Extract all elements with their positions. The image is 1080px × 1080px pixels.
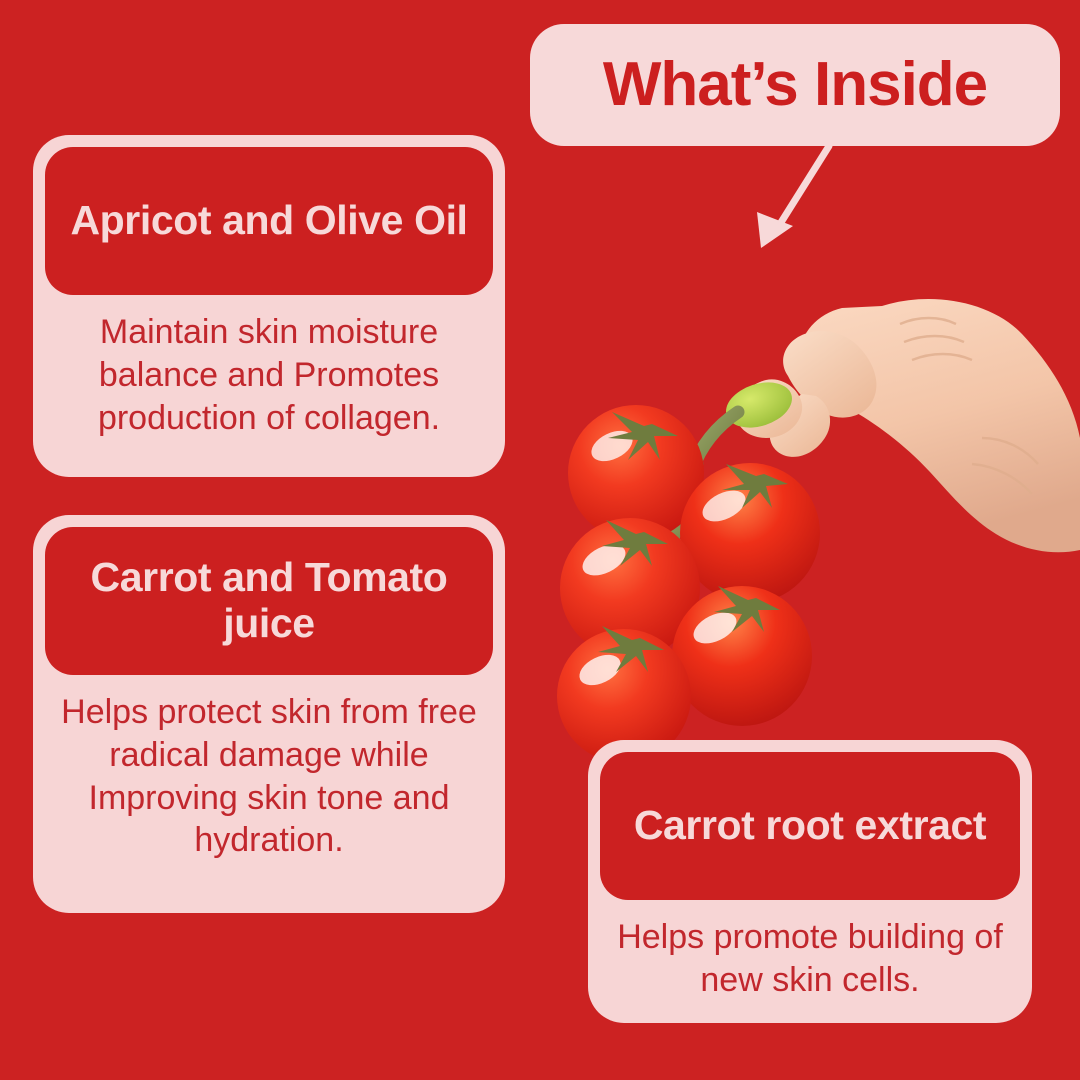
- card-title-text: Carrot root extract: [634, 803, 986, 849]
- tomato-group: [557, 405, 820, 758]
- ingredients-poster: What’s Inside: [0, 0, 1080, 1080]
- ingredient-card-carrot-root-extract: Carrot root extract Helps promote buildi…: [588, 740, 1032, 1023]
- card-body-text: Maintain skin moisture balance and Promo…: [51, 311, 487, 439]
- card-title-text: Apricot and Olive Oil: [70, 198, 467, 244]
- ingredient-card-apricot-olive-oil: Apricot and Olive Oil Maintain skin mois…: [33, 135, 505, 477]
- down-left-arrow-icon: [735, 142, 855, 262]
- card-title-pill: Apricot and Olive Oil: [45, 147, 493, 295]
- ingredient-card-carrot-tomato-juice: Carrot and Tomato juice Helps protect sk…: [33, 515, 505, 913]
- header-pill: What’s Inside: [530, 24, 1060, 146]
- card-title-text: Carrot and Tomato juice: [63, 555, 475, 647]
- card-title-pill: Carrot and Tomato juice: [45, 527, 493, 675]
- card-body-text: Helps promote building of new skin cells…: [606, 916, 1014, 1002]
- card-body-text: Helps protect skin from free radical dam…: [51, 691, 487, 862]
- hand-holding-tomatoes-photo: [552, 288, 1080, 758]
- card-title-pill: Carrot root extract: [600, 752, 1020, 900]
- page-title: What’s Inside: [603, 54, 987, 116]
